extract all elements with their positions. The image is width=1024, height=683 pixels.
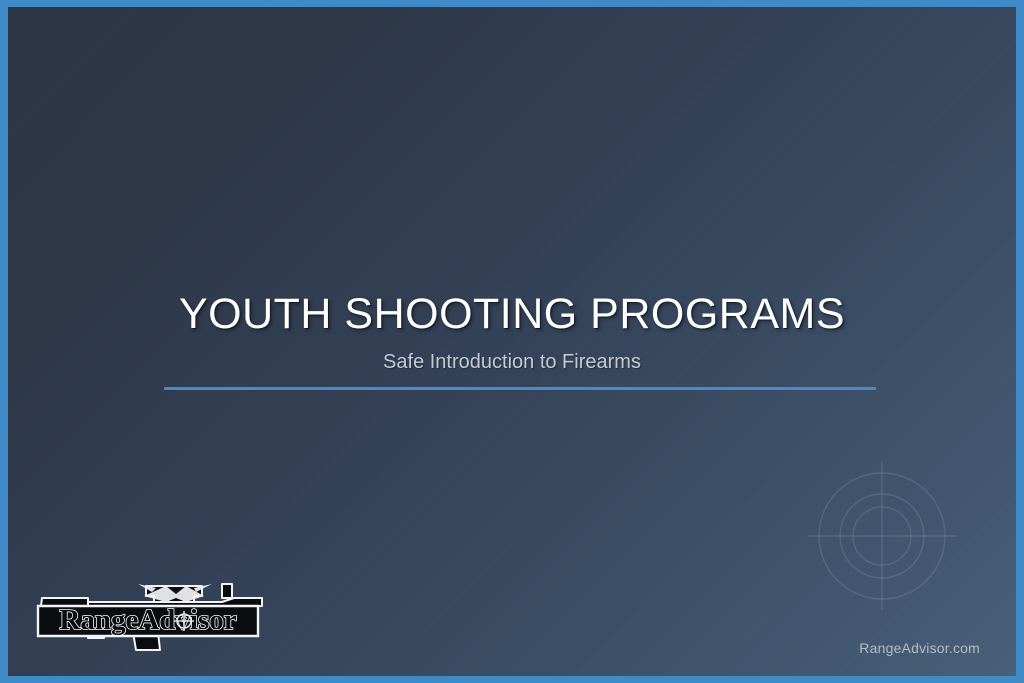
- brand-wordmark-text: RangeAdvisor: [59, 604, 236, 636]
- brand-logo: RangeAdvisor: [26, 562, 284, 658]
- page-title: YOUTH SHOOTING PROGRAMS: [156, 292, 868, 338]
- slide-canvas: YOUTH SHOOTING PROGRAMS Safe Introductio…: [8, 7, 1016, 676]
- brand-wordmark: RangeAdvisor: [38, 604, 258, 636]
- slide-border-left: [0, 0, 8, 683]
- presentation-slide: YOUTH SHOOTING PROGRAMS Safe Introductio…: [0, 0, 1024, 683]
- page-subtitle: Safe Introduction to Firearms: [156, 351, 868, 374]
- slide-border-top: [0, 0, 1024, 7]
- title-block: YOUTH SHOOTING PROGRAMS Safe Introductio…: [156, 292, 868, 374]
- footer-url: RangeAdvisor.com: [859, 640, 980, 656]
- title-divider: [164, 387, 876, 390]
- crosshair-target-icon: [782, 436, 982, 636]
- slide-border-bottom: [0, 676, 1024, 683]
- slide-border-right: [1016, 0, 1024, 683]
